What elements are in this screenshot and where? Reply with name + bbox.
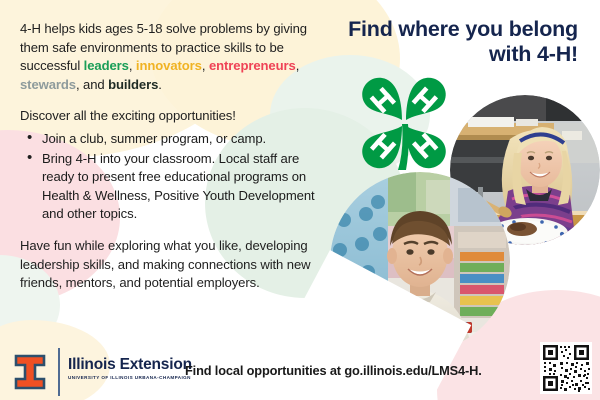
- role-entrepreneurs: entrepreneurs: [209, 58, 296, 73]
- opportunities-intro: Discover all the exciting opportunities!: [20, 107, 332, 126]
- call-to-action-url[interactable]: Find local opportunities at go.illinois.…: [185, 363, 482, 378]
- organization-name: Illinois Extension: [68, 356, 192, 373]
- role-stewards: stewards: [20, 77, 76, 92]
- sep-1: ,: [129, 58, 136, 73]
- sep-2: ,: [202, 58, 209, 73]
- organization-lockup: Illinois Extension UNIVERSITY OF ILLINOI…: [68, 356, 192, 380]
- list-item: Bring 4-H into your classroom. Local sta…: [20, 150, 332, 224]
- sep-4: , and: [76, 77, 108, 92]
- logo-divider: [58, 348, 60, 396]
- illinois-block-i-logo: [10, 352, 50, 392]
- sep-end: .: [158, 77, 162, 92]
- role-leaders: leaders: [84, 58, 129, 73]
- flyer-canvas: Find where you belong with 4-H! 4-H help…: [0, 0, 600, 400]
- organization-subtitle: UNIVERSITY OF ILLINOIS URBANA-CHAMPAIGN: [68, 375, 192, 380]
- paragraph-roles: 4-H helps kids ages 5-18 solve problems …: [20, 20, 332, 94]
- list-item: Join a club, summer program, or camp.: [20, 130, 332, 149]
- 4-h-clover-logo: [348, 68, 460, 180]
- qr-code[interactable]: [540, 342, 592, 394]
- paragraph-have-fun: Have fun while exploring what you like, …: [20, 237, 332, 293]
- headline: Find where you belong with 4-H!: [320, 17, 578, 67]
- headline-line-2: with 4-H!: [489, 42, 578, 66]
- role-builders: builders: [108, 77, 158, 92]
- footer: Illinois Extension UNIVERSITY OF ILLINOI…: [0, 344, 600, 400]
- headline-line-1: Find where you belong: [348, 17, 578, 41]
- opportunities-list: Join a club, summer program, or camp. Br…: [20, 130, 332, 224]
- body-copy: 4-H helps kids ages 5-18 solve problems …: [20, 20, 332, 293]
- sep-3: ,: [296, 58, 300, 73]
- role-innovators: innovators: [136, 58, 202, 73]
